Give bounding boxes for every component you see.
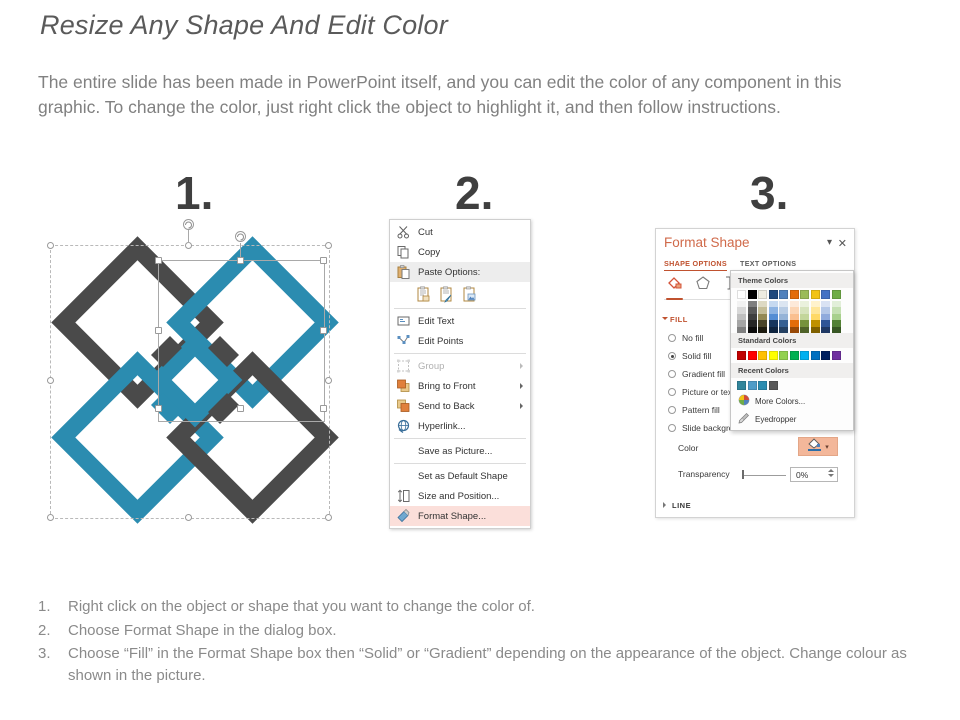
pentagon-effects-icon[interactable] — [695, 275, 711, 296]
copy-icon — [396, 245, 411, 260]
menu-label: Copy — [418, 247, 440, 258]
intro-paragraph: The entire slide has been made in PowerP… — [38, 70, 868, 120]
stepper-up-icon[interactable] — [828, 469, 834, 472]
menu-item-bring-to-front[interactable]: Bring to Front — [390, 376, 530, 396]
theme-color-column — [758, 290, 767, 333]
color-swatch[interactable] — [790, 351, 799, 360]
paste-options-row[interactable] — [390, 282, 530, 306]
fill-section-header[interactable]: FILL — [670, 315, 688, 324]
color-swatch[interactable] — [821, 290, 830, 299]
theme-color-column — [737, 290, 746, 333]
fill-color-icon — [807, 438, 822, 456]
inner-handle-middle-left[interactable] — [155, 327, 162, 334]
menu-item-set-as-default-shape[interactable]: Set as Default Shape — [390, 466, 530, 486]
instruction-text: Right click on the object or shape that … — [68, 596, 938, 618]
color-swatch[interactable] — [811, 290, 820, 299]
standard-colors-header: Standard Colors — [731, 333, 853, 348]
instruction-item: 3. Choose “Fill” in the Format Shape box… — [38, 643, 938, 686]
page-title: Resize Any Shape And Edit Color — [40, 10, 448, 41]
instruction-item: 2. Choose Format Shape in the dialog box… — [38, 620, 938, 642]
eyedropper-item[interactable]: Eyedropper — [731, 410, 853, 428]
line-section-header[interactable]: LINE — [672, 501, 691, 510]
inner-handle-top-left[interactable] — [155, 257, 162, 264]
radio-solid-fill[interactable]: Solid fill — [682, 351, 711, 361]
paste-icon — [396, 265, 411, 280]
radio-icon — [668, 388, 676, 396]
step-number-3: 3. — [750, 170, 788, 216]
standard-colors-row[interactable] — [731, 348, 853, 363]
menu-label: Paste Options: — [418, 267, 480, 278]
toolbar-active-indicator — [666, 298, 683, 300]
inner-handle-top-center[interactable] — [237, 257, 244, 264]
color-swatch[interactable] — [758, 327, 767, 334]
fill-color-button[interactable]: ▾ — [798, 437, 838, 456]
radio-label: Gradient fill — [682, 369, 725, 379]
menu-separator — [394, 463, 526, 464]
menu-item-edit-text[interactable]: Edit Text — [390, 311, 530, 331]
radio-gradient-fill[interactable]: Gradient fill — [682, 369, 725, 379]
pane-options-caret-icon[interactable]: ▾ — [827, 237, 832, 248]
more-colors-label: More Colors... — [755, 397, 805, 406]
menu-item-edit-points[interactable]: Edit Points — [390, 331, 530, 351]
theme-color-column — [790, 290, 799, 333]
group-icon — [396, 359, 411, 374]
menu-item-format-shape[interactable]: Format Shape... — [390, 506, 530, 526]
menu-label: Set as Default Shape — [418, 471, 508, 482]
theme-color-column — [748, 290, 757, 333]
scissors-icon — [396, 225, 411, 240]
instruction-item: 1. Right click on the object or shape th… — [38, 596, 938, 618]
color-swatch[interactable] — [769, 351, 778, 360]
color-swatch[interactable] — [779, 351, 788, 360]
color-swatch[interactable] — [790, 327, 799, 334]
color-swatch[interactable] — [748, 290, 757, 299]
radio-icon — [668, 406, 676, 414]
selection-handle-bottom-right[interactable] — [325, 514, 332, 521]
chevron-down-icon[interactable]: ▾ — [825, 443, 829, 451]
inner-handle-bottom-right[interactable] — [320, 405, 327, 412]
recent-colors-row[interactable] — [731, 378, 853, 392]
menu-label: Send to Back — [418, 401, 475, 412]
color-swatch[interactable] — [748, 351, 757, 360]
menu-separator — [394, 353, 526, 354]
transparency-label: Transparency — [678, 469, 730, 479]
radio-label: Pattern fill — [682, 405, 720, 415]
color-swatch[interactable] — [737, 351, 746, 360]
theme-color-column — [779, 290, 788, 333]
menu-label: Hyperlink... — [418, 421, 466, 432]
theme-colors-header: Theme Colors — [731, 273, 853, 288]
paste-keep-source-formatting-icon[interactable] — [416, 286, 432, 303]
shape-graphic-panel — [40, 225, 350, 535]
instruction-number: 2. — [38, 620, 68, 642]
menu-item-copy[interactable]: Copy — [390, 242, 530, 262]
rotate-stem-inner — [240, 243, 241, 257]
radio-icon-selected — [668, 352, 676, 360]
color-swatch[interactable] — [800, 327, 809, 334]
selection-handle-bottom-center[interactable] — [185, 514, 192, 521]
radio-icon — [668, 424, 676, 432]
selection-handle-top-right[interactable] — [325, 242, 332, 249]
menu-separator — [394, 308, 526, 309]
recent-colors-header: Recent Colors — [731, 363, 853, 378]
menu-label: Cut — [418, 227, 433, 238]
stepper-arrows[interactable] — [828, 469, 834, 477]
rotate-handle-inner[interactable] — [235, 231, 246, 242]
color-row-label: Color — [678, 443, 698, 453]
inner-handle-bottom-left[interactable] — [155, 405, 162, 412]
selection-handle-top-center[interactable] — [185, 242, 192, 249]
color-picker-dropdown[interactable]: Theme Colors Standard Colors R — [730, 270, 854, 431]
theme-color-column — [811, 290, 820, 333]
menu-item-cut[interactable]: Cut — [390, 222, 530, 242]
edit-text-icon — [396, 314, 411, 329]
color-swatch[interactable] — [769, 290, 778, 299]
menu-label: Group — [418, 361, 444, 372]
color-swatch[interactable] — [737, 381, 746, 390]
color-swatch[interactable] — [811, 351, 820, 360]
slide-canvas: Resize Any Shape And Edit Color The enti… — [0, 0, 960, 720]
color-swatch[interactable] — [800, 290, 809, 299]
radio-label: Solid fill — [682, 351, 711, 361]
close-icon[interactable]: ✕ — [838, 237, 847, 250]
edit-points-icon — [396, 334, 411, 349]
chevron-right-icon — [520, 403, 523, 409]
instruction-text: Choose Format Shape in the dialog box. — [68, 620, 938, 642]
menu-item-hyperlink[interactable]: Hyperlink... — [390, 416, 530, 436]
stepper-down-icon[interactable] — [828, 474, 834, 477]
more-colors-icon — [738, 394, 750, 408]
color-swatch[interactable] — [748, 327, 757, 334]
inner-selection-box — [158, 260, 325, 422]
theme-color-column — [832, 290, 841, 333]
color-swatch[interactable] — [832, 351, 841, 360]
radio-no-fill[interactable]: No fill — [682, 333, 703, 343]
transparency-stepper[interactable]: 0% — [790, 467, 838, 482]
rotate-handle-outer[interactable] — [183, 219, 194, 230]
chevron-right-icon[interactable] — [663, 502, 666, 508]
color-swatch[interactable] — [758, 381, 767, 390]
step-number-2: 2. — [455, 170, 493, 216]
pane-toolbar[interactable] — [666, 275, 737, 296]
inner-handle-top-right[interactable] — [320, 257, 327, 264]
context-menu[interactable]: Cut Copy Paste Options: — [389, 219, 531, 529]
menu-label: Size and Position... — [418, 491, 499, 502]
selection-handle-top-left[interactable] — [47, 242, 54, 249]
paste-picture-icon[interactable] — [462, 286, 478, 303]
theme-colors-grid[interactable] — [731, 288, 853, 333]
color-swatch[interactable] — [832, 327, 841, 334]
transparency-value: 0% — [796, 470, 808, 480]
size-position-icon — [396, 489, 411, 504]
radio-icon — [668, 334, 676, 342]
menu-label: Bring to Front — [418, 381, 476, 392]
inner-handle-bottom-center[interactable] — [237, 405, 244, 412]
instruction-number: 3. — [38, 643, 68, 686]
paste-use-destination-theme-icon[interactable] — [439, 286, 455, 303]
instruction-text: Choose “Fill” in the Format Shape box th… — [68, 643, 938, 686]
chevron-right-icon — [520, 383, 523, 389]
selection-handle-middle-left[interactable] — [47, 377, 54, 384]
theme-color-column — [769, 290, 778, 333]
menu-separator — [394, 438, 526, 439]
send-to-back-icon — [396, 399, 411, 414]
menu-item-paste-options[interactable]: Paste Options: — [390, 262, 530, 282]
color-swatch[interactable] — [821, 327, 830, 334]
selection-handle-bottom-left[interactable] — [47, 514, 54, 521]
menu-item-save-as-picture[interactable]: Save as Picture... — [390, 441, 530, 461]
chevron-down-icon[interactable] — [662, 317, 668, 320]
color-swatch[interactable] — [790, 290, 799, 299]
color-swatch[interactable] — [748, 381, 757, 390]
color-swatch[interactable] — [737, 290, 746, 299]
fill-bucket-icon[interactable] — [666, 275, 683, 296]
radio-pattern-fill[interactable]: Pattern fill — [682, 405, 720, 415]
radio-icon — [668, 370, 676, 378]
radio-label: No fill — [682, 333, 703, 343]
menu-label: Save as Picture... — [418, 446, 492, 457]
color-swatch[interactable] — [779, 327, 788, 334]
theme-color-column — [821, 290, 830, 333]
instruction-number: 1. — [38, 596, 68, 618]
inner-handle-middle-right[interactable] — [320, 327, 327, 334]
color-swatch[interactable] — [769, 327, 778, 334]
menu-item-group[interactable]: Group — [390, 356, 530, 376]
chevron-right-icon — [520, 363, 523, 369]
menu-item-send-to-back[interactable]: Send to Back — [390, 396, 530, 416]
rotate-stem-outer — [188, 230, 189, 243]
instructions-list: 1. Right click on the object or shape th… — [38, 596, 938, 688]
tab-shape-options[interactable]: SHAPE OPTIONS — [664, 259, 727, 271]
step-number-1: 1. — [175, 170, 213, 216]
hyperlink-icon — [396, 419, 411, 434]
eyedropper-label: Eyedropper — [755, 415, 796, 424]
menu-item-size-and-position[interactable]: Size and Position... — [390, 486, 530, 506]
selection-handle-middle-right[interactable] — [325, 377, 332, 384]
theme-color-column — [800, 290, 809, 333]
more-colors-item[interactable]: More Colors... — [731, 392, 853, 410]
format-shape-title: Format Shape — [664, 235, 750, 250]
menu-label: Format Shape... — [418, 511, 486, 522]
transparency-slider-thumb[interactable] — [742, 470, 744, 479]
color-swatch[interactable] — [758, 290, 767, 299]
transparency-slider-track[interactable] — [744, 475, 786, 476]
format-shape-icon — [396, 509, 411, 524]
color-swatch[interactable] — [800, 351, 809, 360]
color-swatch[interactable] — [758, 351, 767, 360]
color-swatch[interactable] — [779, 290, 788, 299]
color-swatch[interactable] — [811, 327, 820, 334]
eyedropper-icon — [738, 412, 750, 426]
color-swatch[interactable] — [737, 327, 746, 334]
bring-to-front-icon — [396, 379, 411, 394]
color-swatch[interactable] — [769, 381, 778, 390]
color-swatch[interactable] — [821, 351, 830, 360]
menu-label: Edit Text — [418, 316, 454, 327]
menu-label: Edit Points — [418, 336, 463, 347]
color-swatch[interactable] — [832, 290, 841, 299]
